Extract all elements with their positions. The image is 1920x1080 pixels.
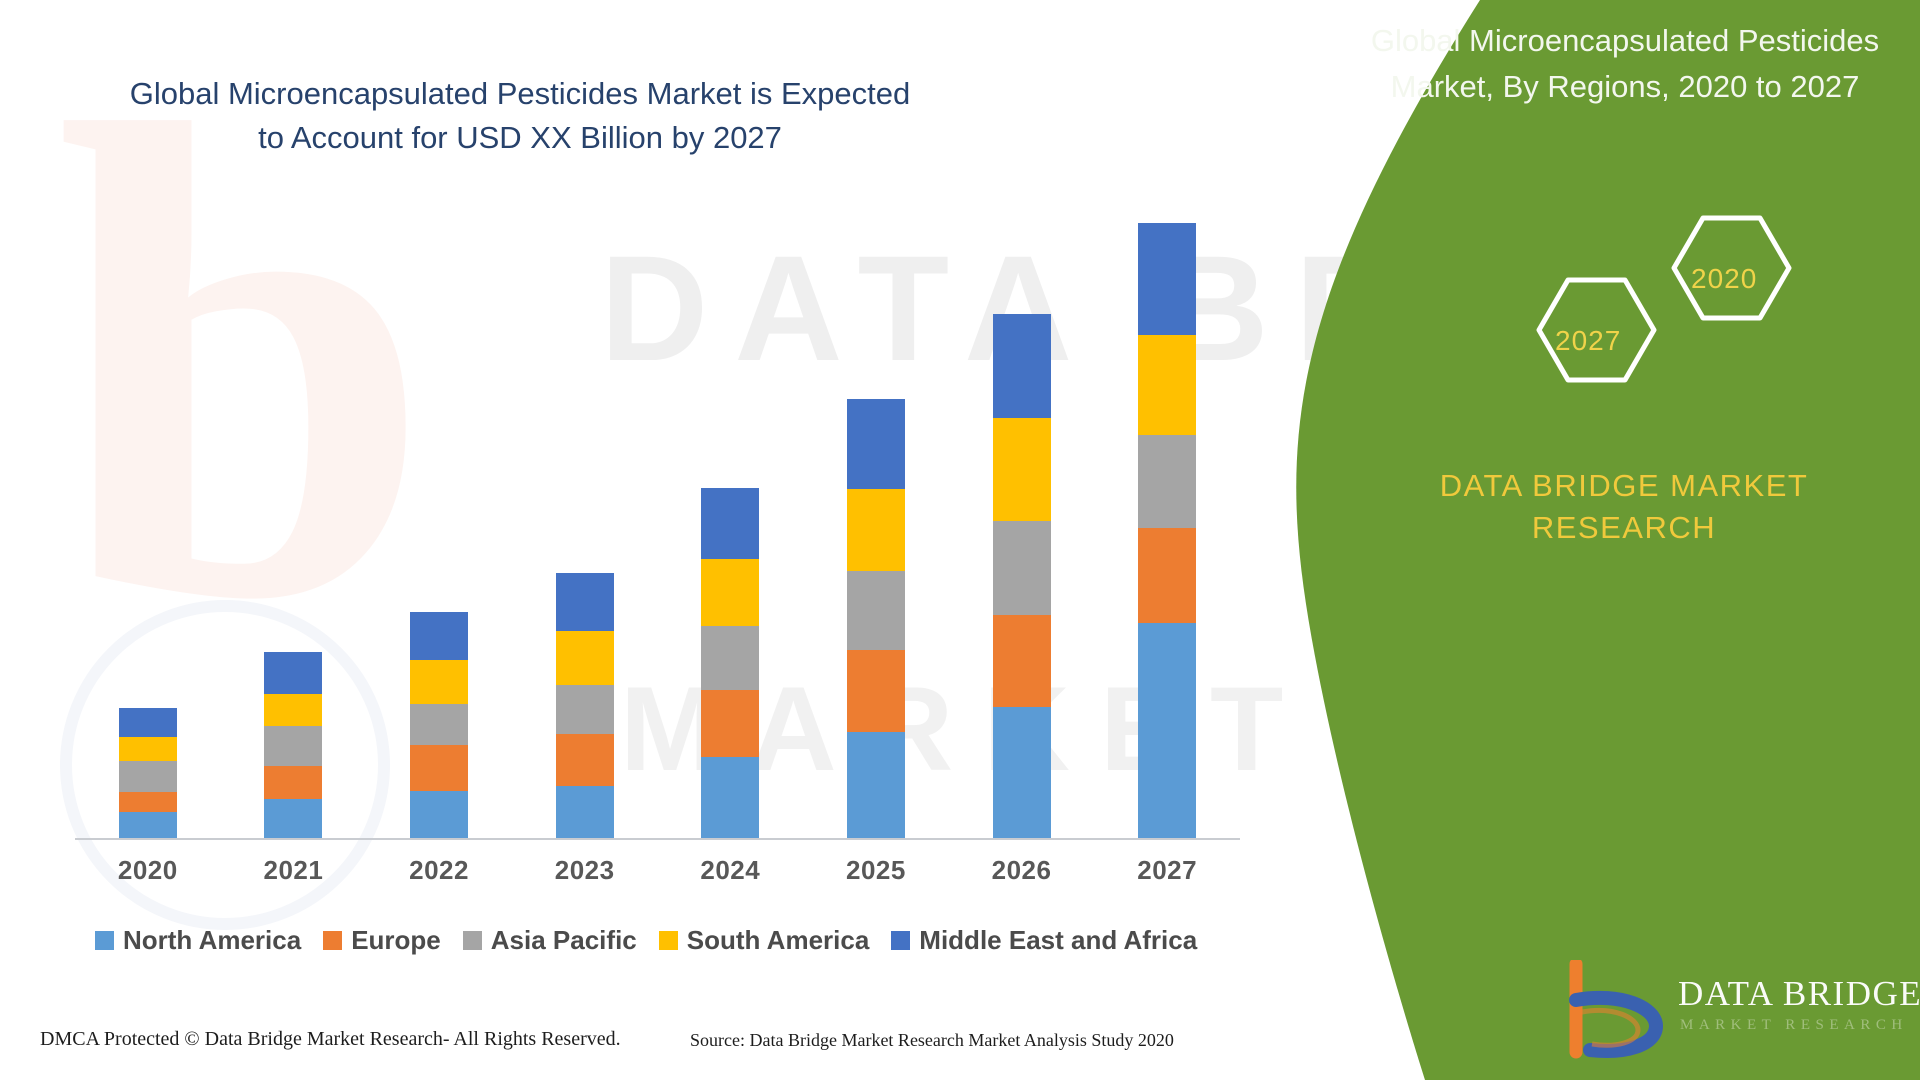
stacked-bar[interactable] [410, 612, 468, 838]
legend-item[interactable]: Asia Pacific [463, 925, 637, 956]
brand-panel: Global Microencapsulated Pesticides Mark… [1230, 0, 1920, 1080]
legend-item[interactable]: South America [659, 925, 870, 956]
bar-slot-2027 [1094, 182, 1240, 838]
x-tick-label: 2024 [658, 855, 804, 886]
bar-segment[interactable] [847, 399, 905, 490]
legend-swatch-icon [891, 931, 910, 950]
bar-segment[interactable] [119, 708, 177, 738]
hexagon-graphic: 2020 2027 [1498, 210, 1798, 390]
bar-segment[interactable] [264, 799, 322, 838]
bar-segment[interactable] [410, 612, 468, 660]
chart-area: Global Microencapsulated Pesticides Mark… [0, 0, 1300, 1080]
x-tick-label: 2026 [949, 855, 1095, 886]
stacked-bar[interactable] [264, 652, 322, 838]
legend-item[interactable]: Middle East and Africa [891, 925, 1197, 956]
legend-label: Europe [351, 925, 441, 956]
bar-segment[interactable] [556, 631, 614, 685]
logo-wordmark: DATA BRIDGE [1678, 974, 1920, 1014]
brand-panel-content: Global Microencapsulated Pesticides Mark… [1230, 0, 1920, 1080]
bar-segment[interactable] [556, 734, 614, 785]
bar-segment[interactable] [1138, 435, 1196, 528]
brand-name: DATA BRIDGE MARKET RESEARCH [1364, 465, 1884, 549]
bar-segment[interactable] [1138, 223, 1196, 336]
bar-segment[interactable] [410, 791, 468, 838]
x-tick-label: 2022 [366, 855, 512, 886]
bar-slot-2026 [949, 182, 1095, 838]
legend-swatch-icon [659, 931, 678, 950]
bar-segment[interactable] [701, 626, 759, 691]
hexagon-outlines [1498, 210, 1798, 390]
logo-tagline: MARKET RESEARCH [1680, 1017, 1908, 1034]
x-tick-label: 2023 [512, 855, 658, 886]
dmca-notice: DMCA Protected © Data Bridge Market Rese… [40, 1028, 621, 1051]
bar-segment[interactable] [556, 685, 614, 734]
bar-segment[interactable] [119, 761, 177, 792]
bar-slot-2025 [803, 182, 949, 838]
stacked-bar[interactable] [119, 708, 177, 838]
x-axis-labels: 20202021202220232024202520262027 [75, 855, 1240, 886]
bar-slot-2024 [658, 182, 804, 838]
bar-segment[interactable] [701, 559, 759, 626]
stacked-bar[interactable] [701, 488, 759, 838]
bar-segment[interactable] [410, 745, 468, 791]
bar-segment[interactable] [1138, 528, 1196, 623]
x-tick-label: 2021 [221, 855, 367, 886]
data-bridge-logo-icon [1560, 960, 1670, 1060]
bar-segment[interactable] [119, 792, 177, 812]
bar-group [75, 182, 1240, 838]
bar-segment[interactable] [410, 660, 468, 704]
stacked-bar[interactable] [556, 573, 614, 838]
legend-item[interactable]: Europe [323, 925, 441, 956]
legend-swatch-icon [323, 931, 342, 950]
bar-segment[interactable] [701, 757, 759, 838]
x-tick-label: 2020 [75, 855, 221, 886]
chart-title: Global Microencapsulated Pesticides Mark… [120, 72, 920, 160]
bar-segment[interactable] [993, 615, 1051, 707]
bar-segment[interactable] [119, 812, 177, 838]
bar-segment[interactable] [993, 521, 1051, 615]
stacked-bar[interactable] [847, 399, 905, 839]
legend-label: North America [123, 925, 301, 956]
bar-slot-2021 [221, 182, 367, 838]
bar-segment[interactable] [701, 690, 759, 757]
plot-region [75, 180, 1245, 840]
bar-segment[interactable] [847, 650, 905, 732]
bar-segment[interactable] [410, 704, 468, 746]
legend-label: South America [687, 925, 870, 956]
hex-label-2020: 2020 [1691, 263, 1757, 295]
legend-label: Middle East and Africa [919, 925, 1197, 956]
hex-label-2027: 2027 [1555, 325, 1621, 357]
x-tick-label: 2027 [1094, 855, 1240, 886]
legend-label: Asia Pacific [491, 925, 637, 956]
bar-segment[interactable] [993, 314, 1051, 418]
bar-segment[interactable] [264, 694, 322, 727]
bar-segment[interactable] [556, 786, 614, 838]
stacked-bar[interactable] [1138, 223, 1196, 839]
bar-segment[interactable] [264, 726, 322, 765]
bar-segment[interactable] [847, 489, 905, 571]
bar-segment[interactable] [993, 707, 1051, 838]
x-axis-line [75, 838, 1240, 840]
bar-segment[interactable] [993, 418, 1051, 521]
bar-segment[interactable] [847, 571, 905, 650]
bar-slot-2023 [512, 182, 658, 838]
legend-swatch-icon [463, 931, 482, 950]
panel-title: Global Microencapsulated Pesticides Mark… [1360, 18, 1890, 110]
data-bridge-logo: DATA BRIDGE MARKET RESEARCH [1560, 960, 1890, 1065]
bar-segment[interactable] [1138, 623, 1196, 838]
bar-segment[interactable] [119, 737, 177, 761]
source-note: Source: Data Bridge Market Research Mark… [690, 1030, 1174, 1051]
legend-swatch-icon [95, 931, 114, 950]
bar-segment[interactable] [264, 652, 322, 694]
legend-item[interactable]: North America [95, 925, 301, 956]
stacked-bar[interactable] [993, 314, 1051, 838]
footer: DMCA Protected © Data Bridge Market Rese… [0, 1028, 1300, 1068]
bar-segment[interactable] [701, 488, 759, 559]
bar-slot-2022 [366, 182, 512, 838]
chart-legend: North AmericaEuropeAsia PacificSouth Ame… [95, 925, 1197, 956]
bar-segment[interactable] [847, 732, 905, 838]
bar-segment[interactable] [1138, 335, 1196, 434]
bar-segment[interactable] [264, 766, 322, 799]
x-tick-label: 2025 [803, 855, 949, 886]
bar-segment[interactable] [556, 573, 614, 631]
bar-slot-2020 [75, 182, 221, 838]
